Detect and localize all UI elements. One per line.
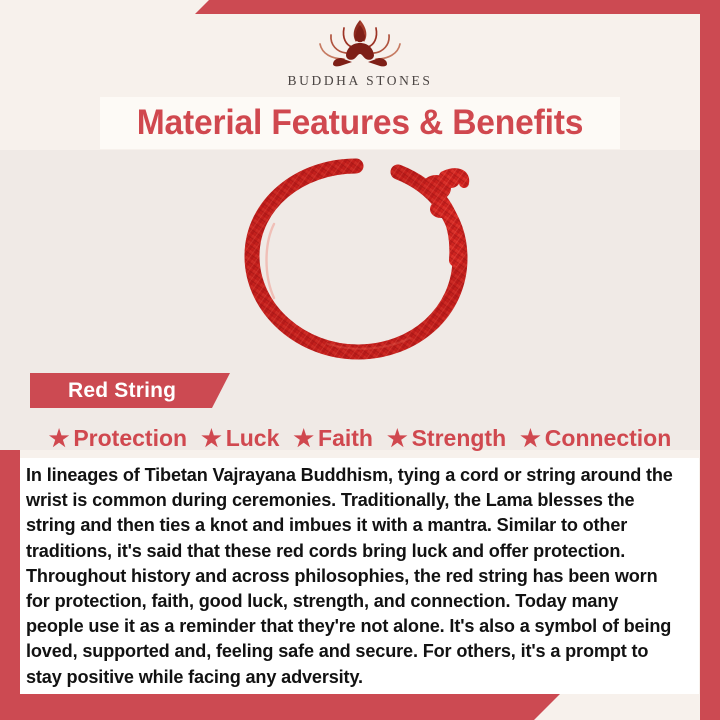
- infographic-page: BUDDHA STONES Material Features & Benefi…: [0, 0, 720, 720]
- benefit-label: Connection: [545, 425, 672, 452]
- benefit-item: ★ Connection: [514, 425, 677, 452]
- benefit-item: ★ Strength: [381, 425, 512, 452]
- benefit-label: Luck: [226, 425, 280, 452]
- star-icon: ★: [201, 427, 222, 450]
- brand-name: BUDDHA STONES: [288, 73, 433, 89]
- benefit-item: ★ Protection: [43, 425, 193, 452]
- benefits-row: ★ Protection ★ Luck ★ Faith ★ Strength ★…: [20, 420, 700, 456]
- benefit-label: Strength: [412, 425, 507, 452]
- decor-bar-bottom: [0, 694, 560, 720]
- ribbon-label: Red String: [68, 379, 176, 403]
- benefit-label: Protection: [73, 425, 187, 452]
- product-ribbon: Red String: [30, 373, 230, 408]
- page-title: Material Features & Benefits: [14, 100, 705, 146]
- product-image: [208, 152, 508, 374]
- star-icon: ★: [387, 427, 408, 450]
- lotus-meditation-icon: [300, 14, 420, 72]
- benefit-item: ★ Luck: [195, 425, 285, 452]
- brand-logo: BUDDHA STONES: [0, 14, 720, 94]
- star-icon: ★: [520, 427, 541, 450]
- benefit-item: ★ Faith: [287, 425, 379, 452]
- benefit-label: Faith: [318, 425, 373, 452]
- description-panel: In lineages of Tibetan Vajrayana Buddhis…: [20, 458, 699, 694]
- star-icon: ★: [293, 427, 314, 450]
- description-text: In lineages of Tibetan Vajrayana Buddhis…: [26, 462, 679, 689]
- star-icon: ★: [49, 427, 70, 450]
- decor-bar-top: [195, 0, 720, 14]
